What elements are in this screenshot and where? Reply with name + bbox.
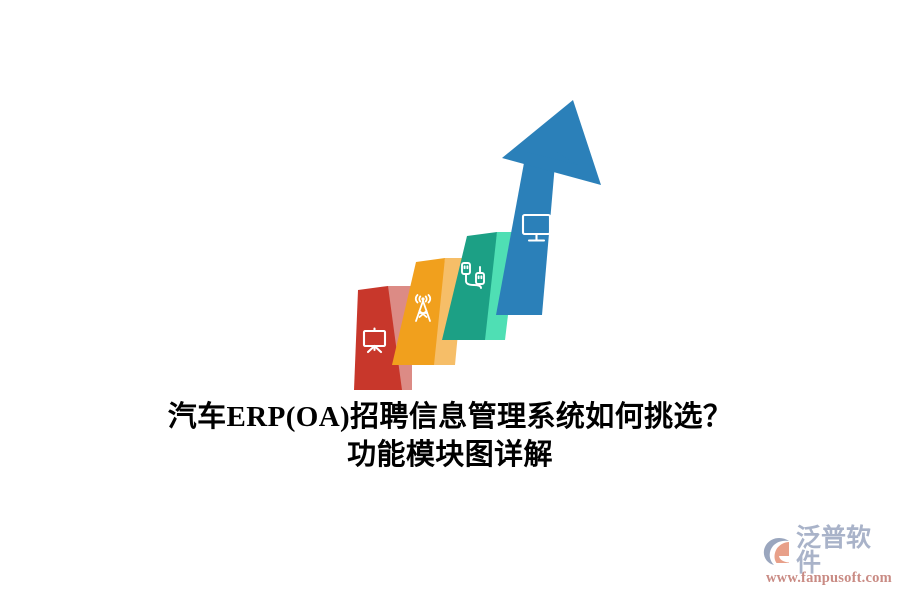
- logo-wordmark: 泛普软件: [796, 526, 894, 576]
- blue-arrow-segment: [496, 100, 601, 315]
- rising-arrow-infographic: [330, 90, 620, 400]
- brand-logo[interactable]: 泛普软件 www.fanpusoft.com: [762, 533, 894, 591]
- fanpu-logo-mark-icon: [762, 535, 794, 567]
- logo-url: www.fanpusoft.com: [766, 570, 894, 587]
- page-canvas: 汽车ERP(OA)招聘信息管理系统如何挑选？ 功能模块图详解 泛普软件 www.…: [0, 0, 900, 600]
- page-title: 汽车ERP(OA)招聘信息管理系统如何挑选？ 功能模块图详解: [0, 398, 900, 475]
- title-line-2: 功能模块图详解: [0, 436, 900, 474]
- title-line-1: 汽车ERP(OA)招聘信息管理系统如何挑选？: [0, 398, 900, 436]
- logo-row: 泛普软件: [762, 533, 894, 569]
